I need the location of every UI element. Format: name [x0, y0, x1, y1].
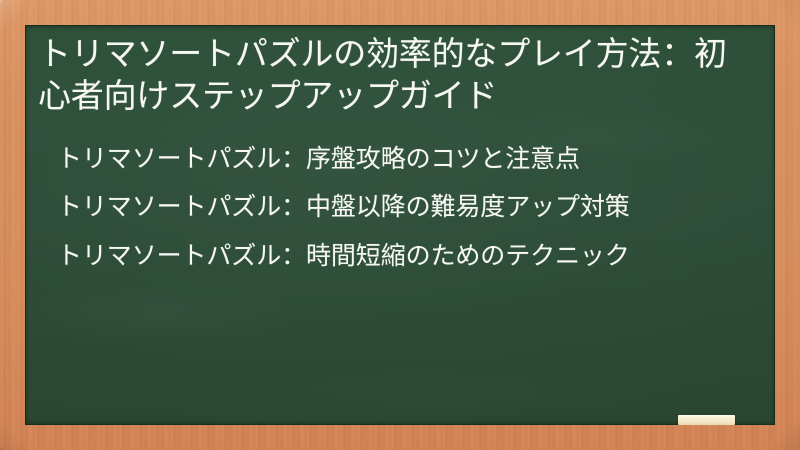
- frame-corner-bottom-left: [0, 422, 28, 450]
- chalkboard-screenshot: トリマソートパズルの効率的なプレイ方法：初心者向けステップアップガイド トリマソ…: [0, 0, 800, 450]
- frame-corner-top-right: [772, 0, 800, 28]
- frame-corner-bottom-right: [772, 422, 800, 450]
- chalkboard-surface: トリマソートパズルの効率的なプレイ方法：初心者向けステップアップガイド トリマソ…: [25, 25, 775, 425]
- list-item[interactable]: トリマソートパズル：中盤以降の難易度アップ対策: [62, 191, 759, 224]
- list-item[interactable]: トリマソートパズル：序盤攻略のコツと注意点: [62, 143, 759, 176]
- topic-list: トリマソートパズル：序盤攻略のコツと注意点 トリマソートパズル：中盤以降の難易度…: [38, 143, 759, 273]
- board-content: トリマソートパズルの効率的なプレイ方法：初心者向けステップアップガイド トリマソ…: [25, 25, 775, 425]
- page-title: トリマソートパズルの効率的なプレイ方法：初心者向けステップアップガイド: [38, 33, 759, 117]
- frame-corner-top-left: [0, 0, 28, 28]
- list-item[interactable]: トリマソートパズル：時間短縮のためのテクニック: [62, 240, 759, 273]
- chalk-stick-icon: [678, 415, 735, 425]
